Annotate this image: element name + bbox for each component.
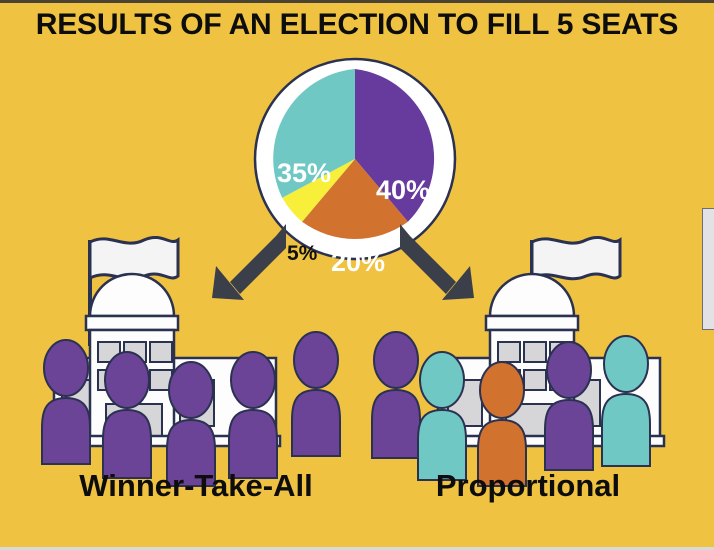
top-divider [0, 0, 714, 3]
outcome-winner-take-all [28, 228, 358, 488]
seat-figure-2[interactable] [418, 352, 466, 480]
seat-figure-4[interactable] [229, 352, 277, 478]
caption-proportional: Proportional [358, 468, 698, 504]
outcome-proportional [366, 228, 696, 488]
seat-figure-2[interactable] [103, 352, 151, 478]
right-side-panel [702, 208, 714, 330]
seat-figure-5[interactable] [602, 336, 650, 466]
seat-figure-5[interactable] [292, 332, 340, 456]
seat-figure-1[interactable] [372, 332, 420, 458]
proportional-illustration [366, 228, 696, 488]
seat-figure-4[interactable] [545, 342, 593, 470]
winner-take-all-illustration [28, 228, 358, 488]
page-title: RESULTS OF AN ELECTION TO FILL 5 SEATS [0, 8, 714, 42]
caption-winner-take-all: Winner-Take-All [26, 468, 366, 504]
slide-canvas: RESULTS OF AN ELECTION TO FILL 5 SEATS 4… [0, 0, 714, 550]
seat-figure-1[interactable] [42, 340, 90, 464]
